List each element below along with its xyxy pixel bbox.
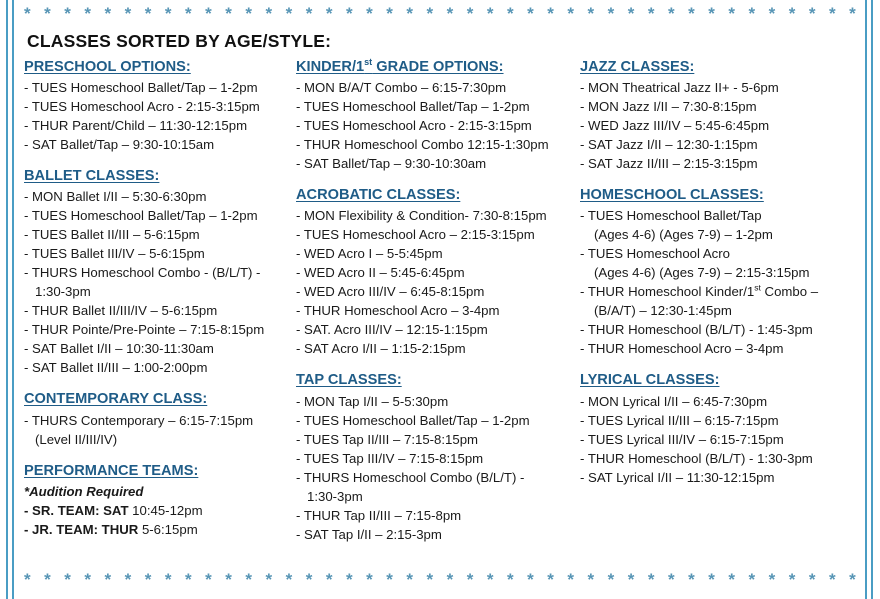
asterisk-glyph: * — [84, 5, 91, 22]
asterisk-glyph: * — [447, 5, 454, 22]
asterisk-glyph: * — [849, 5, 856, 22]
asterisk-divider-bottom: ****************************************… — [24, 568, 856, 590]
asterisk-glyph: * — [728, 571, 735, 588]
asterisk-glyph: * — [125, 571, 132, 588]
asterisk-glyph: * — [306, 571, 313, 588]
asterisk-glyph: * — [769, 571, 776, 588]
class-list-item: - SAT Acro I/II – 1:15-2:15pm — [296, 339, 574, 358]
class-list-item: - THUR Homeschool Acro – 3-4pm — [580, 339, 864, 358]
class-list-item: - THURS Contemporary – 6:15-7:15pm — [24, 411, 290, 430]
class-list-item: - THUR Homeschool (B/L/T) - 1:30-3pm — [580, 449, 864, 468]
asterisk-glyph: * — [588, 5, 595, 22]
class-list: - MON Tap I/II – 5-5:30pm- TUES Homescho… — [296, 392, 574, 544]
class-list-item: - THUR Homeschool Kinder/1st Combo – — [580, 282, 864, 301]
class-list-item: - THUR Homeschool (B/L/T) - 1:45-3pm — [580, 320, 864, 339]
class-section: KINDER/1st GRADE OPTIONS:- MON B/A/T Com… — [296, 58, 574, 173]
class-list-item: - MON Theatrical Jazz II+ - 5-6pm — [580, 78, 864, 97]
class-list-item: - TUES Homeschool Ballet/Tap – 1-2pm — [296, 411, 574, 430]
asterisk-glyph: * — [849, 571, 856, 588]
asterisk-glyph: * — [64, 5, 71, 22]
asterisk-glyph: * — [608, 5, 615, 22]
asterisk-glyph: * — [789, 5, 796, 22]
page-title: CLASSES SORTED BY AGE/STYLE: — [27, 31, 331, 52]
asterisk-glyph: * — [708, 571, 715, 588]
asterisk-glyph: * — [346, 5, 353, 22]
class-list-item: - TUES Homeschool Ballet/Tap — [580, 206, 864, 225]
class-list-item: - TUES Homeschool Acro – 2:15-3:15pm — [296, 225, 574, 244]
asterisk-glyph: * — [809, 5, 816, 22]
left-border-line-outer — [6, 0, 8, 599]
class-list-item: - MON B/A/T Combo – 6:15-7:30pm — [296, 78, 574, 97]
class-list-item: - TUES Homeschool Acro - 2:15-3:15pm — [24, 97, 290, 116]
asterisk-glyph: * — [286, 5, 293, 22]
class-list-item: - TUES Homeschool Acro - 2:15-3:15pm — [296, 116, 574, 135]
class-list-item: - SAT Jazz I/II – 12:30-1:15pm — [580, 135, 864, 154]
asterisk-glyph: * — [648, 571, 655, 588]
asterisk-glyph: * — [427, 571, 434, 588]
class-list: - MON Flexibility & Condition- 7:30-8:15… — [296, 206, 574, 358]
asterisk-glyph: * — [44, 571, 51, 588]
asterisk-glyph: * — [24, 5, 31, 22]
asterisk-glyph: * — [326, 571, 333, 588]
class-list: - SR. TEAM: SAT 10:45-12pm- JR. TEAM: TH… — [24, 501, 290, 539]
asterisk-glyph: * — [44, 5, 51, 22]
class-section: PRESCHOOL OPTIONS:- TUES Homeschool Ball… — [24, 58, 290, 154]
asterisk-glyph: * — [769, 5, 776, 22]
asterisk-glyph: * — [185, 5, 192, 22]
asterisk-glyph: * — [467, 571, 474, 588]
asterisk-glyph: * — [487, 5, 494, 22]
asterisk-glyph: * — [688, 5, 695, 22]
asterisk-glyph: * — [185, 571, 192, 588]
asterisk-glyph: * — [225, 5, 232, 22]
asterisk-glyph: * — [64, 571, 71, 588]
asterisk-glyph: * — [245, 5, 252, 22]
asterisk-glyph: * — [346, 571, 353, 588]
class-section: JAZZ CLASSES:- MON Theatrical Jazz II+ -… — [580, 58, 864, 173]
section-heading: ACROBATIC CLASSES: — [296, 186, 574, 204]
asterisk-glyph: * — [266, 571, 273, 588]
asterisk-glyph: * — [809, 571, 816, 588]
class-list-item: - THUR Ballet II/III/IV – 5-6:15pm — [24, 301, 290, 320]
class-list-item: - TUES Tap II/III – 7:15-8:15pm — [296, 430, 574, 449]
class-list-item: - TUES Lyrical III/IV – 6:15-7:15pm — [580, 430, 864, 449]
asterisk-glyph: * — [145, 571, 152, 588]
class-list-item: - MON Ballet I/II – 5:30-6:30pm — [24, 187, 290, 206]
asterisk-glyph: * — [84, 571, 91, 588]
class-list-item: - TUES Ballet II/III – 5-6:15pm — [24, 225, 290, 244]
class-list-item: - THUR Tap II/III – 7:15-8pm — [296, 506, 574, 525]
asterisk-glyph: * — [708, 5, 715, 22]
asterisk-glyph: * — [406, 5, 413, 22]
class-list-item: - WED Acro III/IV – 6:45-8:15pm — [296, 282, 574, 301]
asterisk-glyph: * — [125, 5, 132, 22]
asterisk-glyph: * — [527, 5, 534, 22]
asterisk-glyph: * — [467, 5, 474, 22]
section-heading: PRESCHOOL OPTIONS: — [24, 58, 290, 76]
class-list: - MON B/A/T Combo – 6:15-7:30pm- TUES Ho… — [296, 78, 574, 173]
class-list-item: - SAT Jazz II/III – 2:15-3:15pm — [580, 154, 864, 173]
asterisk-glyph: * — [749, 5, 756, 22]
asterisk-glyph: * — [225, 571, 232, 588]
asterisk-glyph: * — [668, 571, 675, 588]
class-list: - TUES Homeschool Ballet/Tap – 1-2pm- TU… — [24, 78, 290, 154]
class-list: - MON Lyrical I/II – 6:45-7:30pm- TUES L… — [580, 392, 864, 487]
class-section: PERFORMANCE TEAMS:*Audition Required- SR… — [24, 462, 290, 539]
asterisk-glyph: * — [668, 5, 675, 22]
class-schedule-page: ****************************************… — [0, 0, 880, 599]
class-list-item: (B/A/T) – 12:30-1:45pm — [580, 301, 864, 320]
class-list-item: - TUES Homeschool Acro — [580, 244, 864, 263]
asterisk-glyph: * — [507, 571, 514, 588]
asterisk-glyph: * — [105, 5, 112, 22]
asterisk-glyph: * — [165, 571, 172, 588]
asterisk-glyph: * — [628, 571, 635, 588]
asterisk-glyph: * — [427, 5, 434, 22]
asterisk-glyph: * — [789, 571, 796, 588]
class-list-item: - TUES Lyrical II/III – 6:15-7:15pm — [580, 411, 864, 430]
asterisk-glyph: * — [366, 571, 373, 588]
class-list-item: - THURS Homeschool Combo (B/L/T) - — [296, 468, 574, 487]
asterisk-glyph: * — [447, 571, 454, 588]
section-heading: LYRICAL CLASSES: — [580, 371, 864, 389]
class-list-item: - THUR Pointe/Pre-Pointe – 7:15-8:15pm — [24, 320, 290, 339]
class-list-item: (Ages 4-6) (Ages 7-9) – 1-2pm — [580, 225, 864, 244]
asterisk-divider-top: ****************************************… — [24, 2, 856, 24]
asterisk-glyph: * — [406, 571, 413, 588]
class-list-item: - TUES Homeschool Ballet/Tap – 1-2pm — [24, 206, 290, 225]
class-list-item: - TUES Ballet III/IV – 5-6:15pm — [24, 244, 290, 263]
class-list: - MON Theatrical Jazz II+ - 5-6pm- MON J… — [580, 78, 864, 173]
class-section: ACROBATIC CLASSES:- MON Flexibility & Co… — [296, 186, 574, 358]
class-list-item: (Level II/III/IV) — [24, 430, 290, 449]
asterisk-glyph: * — [567, 5, 574, 22]
asterisk-glyph: * — [728, 5, 735, 22]
class-list-item: - SAT Ballet I/II – 10:30-11:30am — [24, 339, 290, 358]
class-list-item: - SAT Tap I/II – 2:15-3pm — [296, 525, 574, 544]
class-list-item: - THURS Homeschool Combo - (B/L/T) - — [24, 263, 290, 282]
asterisk-glyph: * — [306, 5, 313, 22]
class-list-item: - MON Flexibility & Condition- 7:30-8:15… — [296, 206, 574, 225]
left-border-line-inner — [12, 0, 14, 599]
asterisk-glyph: * — [588, 571, 595, 588]
asterisk-glyph: * — [547, 5, 554, 22]
asterisk-glyph: * — [366, 5, 373, 22]
asterisk-glyph: * — [608, 571, 615, 588]
asterisk-glyph: * — [829, 571, 836, 588]
right-border-line-outer — [871, 0, 873, 599]
class-list-item: - JR. TEAM: THUR 5-6:15pm — [24, 520, 290, 539]
asterisk-glyph: * — [286, 571, 293, 588]
column-right: JAZZ CLASSES:- MON Theatrical Jazz II+ -… — [580, 58, 864, 544]
right-border-line-inner — [865, 0, 867, 599]
class-list-item: - TUES Homeschool Ballet/Tap – 1-2pm — [24, 78, 290, 97]
section-heading: HOMESCHOOL CLASSES: — [580, 186, 864, 204]
section-heading: CONTEMPORARY CLASS: — [24, 390, 290, 408]
class-list-item: - THUR Homeschool Combo 12:15-1:30pm — [296, 135, 574, 154]
asterisk-glyph: * — [245, 571, 252, 588]
class-list-item: - SAT Ballet/Tap – 9:30-10:15am — [24, 135, 290, 154]
class-list-item: - SAT. Acro III/IV – 12:15-1:15pm — [296, 320, 574, 339]
section-heading: TAP CLASSES: — [296, 371, 574, 389]
class-list: - THURS Contemporary – 6:15-7:15pm(Level… — [24, 411, 290, 449]
class-section: BALLET CLASSES:- MON Ballet I/II – 5:30-… — [24, 167, 290, 377]
asterisk-glyph: * — [547, 571, 554, 588]
asterisk-glyph: * — [487, 571, 494, 588]
class-list-item: - SAT Ballet II/III – 1:00-2:00pm — [24, 358, 290, 377]
section-heading: KINDER/1st GRADE OPTIONS: — [296, 58, 574, 76]
class-list-item: - SAT Ballet/Tap – 9:30-10:30am — [296, 154, 574, 173]
class-list-item: - WED Acro I – 5-5:45pm — [296, 244, 574, 263]
asterisk-glyph: * — [326, 5, 333, 22]
asterisk-glyph: * — [205, 571, 212, 588]
asterisk-glyph: * — [628, 5, 635, 22]
column-middle: KINDER/1st GRADE OPTIONS:- MON B/A/T Com… — [296, 58, 580, 544]
asterisk-glyph: * — [145, 5, 152, 22]
asterisk-glyph: * — [165, 5, 172, 22]
class-list-item: - MON Jazz I/II – 7:30-8:15pm — [580, 97, 864, 116]
asterisk-glyph: * — [567, 571, 574, 588]
asterisk-glyph: * — [266, 5, 273, 22]
asterisk-glyph: * — [386, 571, 393, 588]
asterisk-glyph: * — [386, 5, 393, 22]
asterisk-glyph: * — [829, 5, 836, 22]
schedule-columns: PRESCHOOL OPTIONS:- TUES Homeschool Ball… — [24, 58, 864, 544]
class-list-item: 1:30-3pm — [24, 282, 290, 301]
section-note: *Audition Required — [24, 482, 290, 501]
class-list-item: - TUES Tap III/IV – 7:15-8:15pm — [296, 449, 574, 468]
section-heading: PERFORMANCE TEAMS: — [24, 462, 290, 480]
class-list-item: - WED Jazz III/IV – 5:45-6:45pm — [580, 116, 864, 135]
asterisk-glyph: * — [749, 571, 756, 588]
class-list-item: - MON Lyrical I/II – 6:45-7:30pm — [580, 392, 864, 411]
class-list: - TUES Homeschool Ballet/Tap(Ages 4-6) (… — [580, 206, 864, 358]
class-list-item: (Ages 4-6) (Ages 7-9) – 2:15-3:15pm — [580, 263, 864, 282]
class-list: - MON Ballet I/II – 5:30-6:30pm- TUES Ho… — [24, 187, 290, 377]
asterisk-glyph: * — [507, 5, 514, 22]
class-section: TAP CLASSES:- MON Tap I/II – 5-5:30pm- T… — [296, 371, 574, 543]
asterisk-glyph: * — [105, 571, 112, 588]
column-left: PRESCHOOL OPTIONS:- TUES Homeschool Ball… — [24, 58, 296, 544]
class-list-item: - WED Acro II – 5:45-6:45pm — [296, 263, 574, 282]
asterisk-glyph: * — [205, 5, 212, 22]
left-border-rule — [6, 0, 15, 599]
class-list-item: - MON Tap I/II – 5-5:30pm — [296, 392, 574, 411]
asterisk-glyph: * — [648, 5, 655, 22]
class-list-item: 1:30-3pm — [296, 487, 574, 506]
class-list-item: - THUR Homeschool Acro – 3-4pm — [296, 301, 574, 320]
asterisk-glyph: * — [24, 571, 31, 588]
class-section: LYRICAL CLASSES:- MON Lyrical I/II – 6:4… — [580, 371, 864, 486]
asterisk-glyph: * — [688, 571, 695, 588]
class-section: HOMESCHOOL CLASSES:- TUES Homeschool Bal… — [580, 186, 864, 358]
class-list-item: - SAT Lyrical I/II – 11:30-12:15pm — [580, 468, 864, 487]
asterisk-glyph: * — [527, 571, 534, 588]
class-list-item: - TUES Homeschool Ballet/Tap – 1-2pm — [296, 97, 574, 116]
class-list-item: - THUR Parent/Child – 11:30-12:15pm — [24, 116, 290, 135]
class-section: CONTEMPORARY CLASS:- THURS Contemporary … — [24, 390, 290, 448]
section-heading: BALLET CLASSES: — [24, 167, 290, 185]
right-border-rule — [865, 0, 874, 599]
class-list-item: - SR. TEAM: SAT 10:45-12pm — [24, 501, 290, 520]
section-heading: JAZZ CLASSES: — [580, 58, 864, 76]
